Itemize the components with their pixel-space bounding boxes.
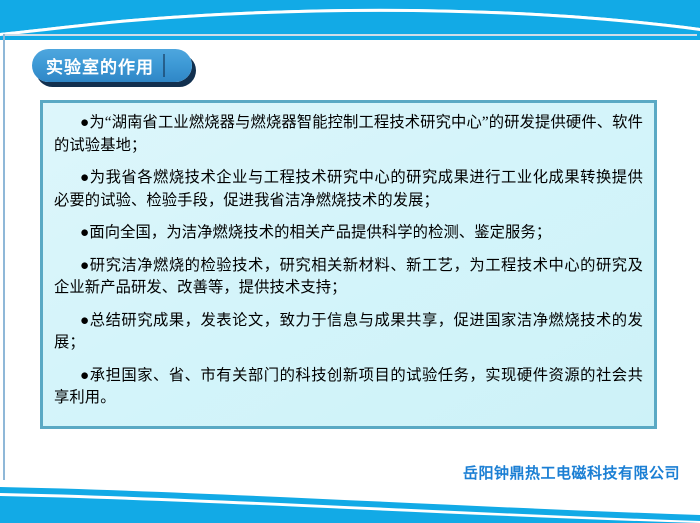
list-item: ●研究洁净燃烧的检验技术，研究相关新材料、新工艺，为工程技术中心的研究及企业新产… [54,255,643,300]
list-item: ●承担国家、省、市有关部门的科技创新项目的试验任务，实现硬件资源的社会共享利用。 [54,365,643,410]
top-divider-rule [3,34,697,36]
bottom-wave-decoration [0,481,700,523]
presentation-slide: 实验室的作用 ●为“湖南省工业燃烧器与燃烧器智能控制工程技术研究中心”的研发提供… [0,0,700,523]
section-title-badge: 实验室的作用 [32,49,192,82]
page-title: 实验室的作用 [32,53,154,78]
list-item: ●总结研究成果，发表论文，致力于信息与成果共享，促进国家洁净燃烧技术的发展； [54,310,643,355]
list-item: ●为“湖南省工业燃烧器与燃烧器智能控制工程技术研究中心”的研发提供硬件、软件的试… [54,112,643,157]
bullet-list: ●为“湖南省工业燃烧器与燃烧器智能控制工程技术研究中心”的研发提供硬件、软件的试… [54,112,643,410]
list-item: ●为我省各燃烧技术企业与工程技术研究中心的研究成果进行工业化成果转换提供必要的试… [54,167,643,212]
left-divider-rule [3,34,5,480]
list-item: ●面向全国，为洁净燃烧技术的相关产品提供科学的检测、鉴定服务； [54,222,643,245]
footer-company-name: 岳阳钟鼎热工电磁科技有限公司 [463,462,680,483]
content-panel: ●为“湖南省工业燃烧器与燃烧器智能控制工程技术研究中心”的研发提供硬件、软件的试… [40,100,657,429]
